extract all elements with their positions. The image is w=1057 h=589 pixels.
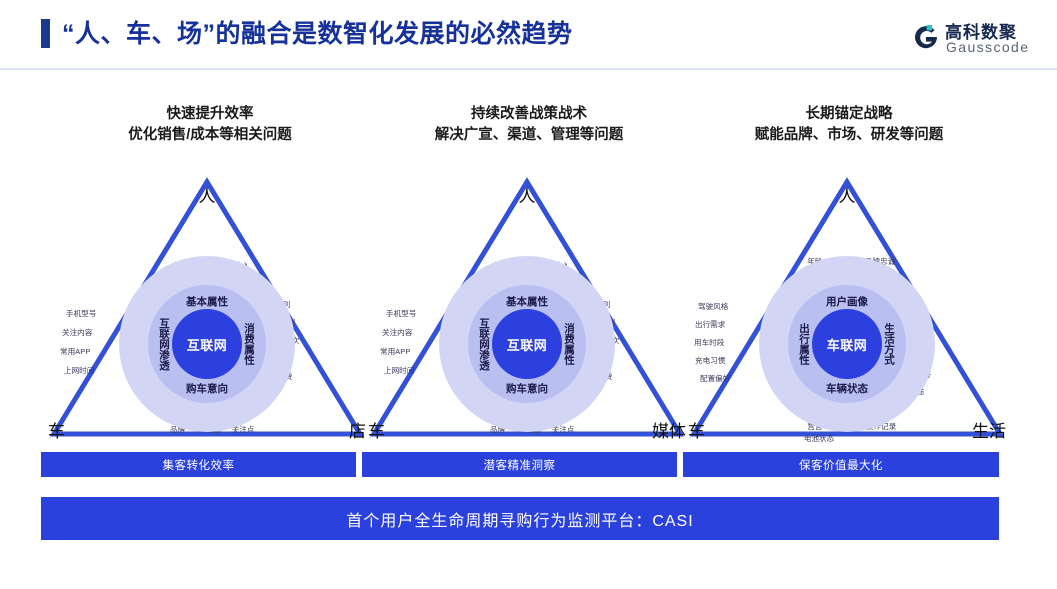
title-accent-bar	[41, 19, 50, 48]
sat-row: 电池状态	[798, 433, 896, 446]
category-bar-1[interactable]: 集客转化效率	[41, 452, 356, 477]
ring-label-bottom-2: 购车意向	[506, 381, 548, 396]
column-heading-3: 长期锚定战略 赋能品牌、市场、研发等问题	[679, 104, 1019, 146]
vertex-left-3: 车	[688, 417, 705, 442]
ring-label-right-3: 生活方式	[882, 323, 897, 365]
column-heading-2: 持续改善战策战术 解决广宣、渠道、管理等问题	[359, 104, 699, 146]
triangle-panel-2: 性别婚姻收入 年龄职业家庭 居住地 手机型号 关注内容 常用APP 上网时间 消…	[364, 168, 690, 444]
concentric-rings-3: 用户画像 车辆状态 出行属性 生活方式 车联网 车联网	[759, 256, 935, 432]
satellite-left-3: 驾驶风格 出行需求 用车时段 充电习惯 配置偏好	[698, 301, 730, 392]
concentric-rings-2: 基本属性 购车意向 互联网渗透 消费属性 互联网 互联网	[439, 256, 615, 432]
ring-label-left-1: 互联网渗透	[157, 318, 172, 371]
column-heading-3-line2: 赋能品牌、市场、研发等问题	[679, 125, 1019, 146]
column-heading-1: 快速提升效率 优化销售/成本等相关问题	[40, 104, 380, 146]
column-heading-2-line1: 持续改善战策战术	[471, 106, 587, 122]
vertex-left-1: 车	[48, 417, 65, 442]
triangle-panel-3: 年龄性别品牌忠诚 职业居住地资产等 度 级 驾驶风格 出行需求 用车时段 充电习…	[684, 168, 1010, 444]
ring-label-left-2: 互联网渗透	[477, 318, 492, 371]
ring-label-bottom-3: 车辆状态	[826, 381, 868, 396]
ring-label-right-1: 消费属性	[242, 323, 257, 365]
category-bar-3[interactable]: 保客价值最大化	[683, 452, 999, 477]
vertex-right-3: 生活	[972, 417, 1006, 442]
header-divider	[0, 68, 1057, 70]
concentric-rings-1: 基本属性 购车意向 互联网渗透 消费属性 互联网 互联网	[119, 256, 295, 432]
satellite-left-2: 手机型号 关注内容 常用APP 上网时间	[386, 308, 416, 384]
ring-core-2: 互联网	[492, 309, 562, 379]
column-heading-3-line1: 长期锚定战略	[806, 106, 893, 122]
satellite-left-1: 手机型号 关注内容 常用APP 上网时间	[66, 308, 96, 384]
vertex-top-3: 人	[839, 182, 856, 207]
platform-summary-bar[interactable]: 首个用户全生命周期寻购行为监测平台：CASI	[41, 497, 999, 540]
column-heading-1-line1: 快速提升效率	[167, 106, 254, 122]
gausscode-g-icon	[912, 23, 940, 51]
slide-canvas: “人、车、场”的融合是数智化发展的必然趋势 高科数聚 Gausscode 快速提…	[0, 0, 1057, 589]
vertex-right-2: 媒体	[652, 417, 686, 442]
vertex-top-1: 人	[199, 182, 216, 207]
ring-label-right-2: 消费属性	[562, 323, 577, 365]
ring-label-top-2: 基本属性	[506, 294, 548, 309]
page-title: “人、车、场”的融合是数智化发展的必然趋势	[62, 14, 573, 50]
ring-label-left-3: 出行属性	[797, 323, 812, 365]
triangle-panel-1: 性别婚姻收入 年龄职业家庭 居住地 手机型号 关注内容 常用APP 上网时间 消…	[44, 168, 370, 444]
slide-header: “人、车、场”的融合是数智化发展的必然趋势 高科数聚 Gausscode	[0, 0, 1057, 68]
ring-core-label-1: 互联网	[187, 335, 228, 354]
category-bar-2[interactable]: 潜客精准洞察	[362, 452, 677, 477]
ring-label-bottom-1: 购车意向	[186, 381, 228, 396]
vertex-left-2: 车	[368, 417, 385, 442]
ring-core-label-3: 车联网	[827, 335, 868, 354]
brand-logo: 高科数聚 Gausscode	[912, 18, 1048, 62]
ring-label-top-1: 基本属性	[186, 294, 228, 309]
ring-core-label-2: 互联网	[507, 335, 548, 354]
column-heading-1-line2: 优化销售/成本等相关问题	[40, 125, 380, 146]
ring-core-1: 互联网	[172, 309, 242, 379]
vertex-top-2: 人	[519, 182, 536, 207]
ring-label-top-3: 用户画像	[826, 294, 868, 309]
ring-core-3: 车联网	[812, 309, 882, 379]
column-heading-2-line2: 解决广宣、渠道、管理等问题	[359, 125, 699, 146]
logo-en-text: Gausscode	[946, 39, 1029, 55]
